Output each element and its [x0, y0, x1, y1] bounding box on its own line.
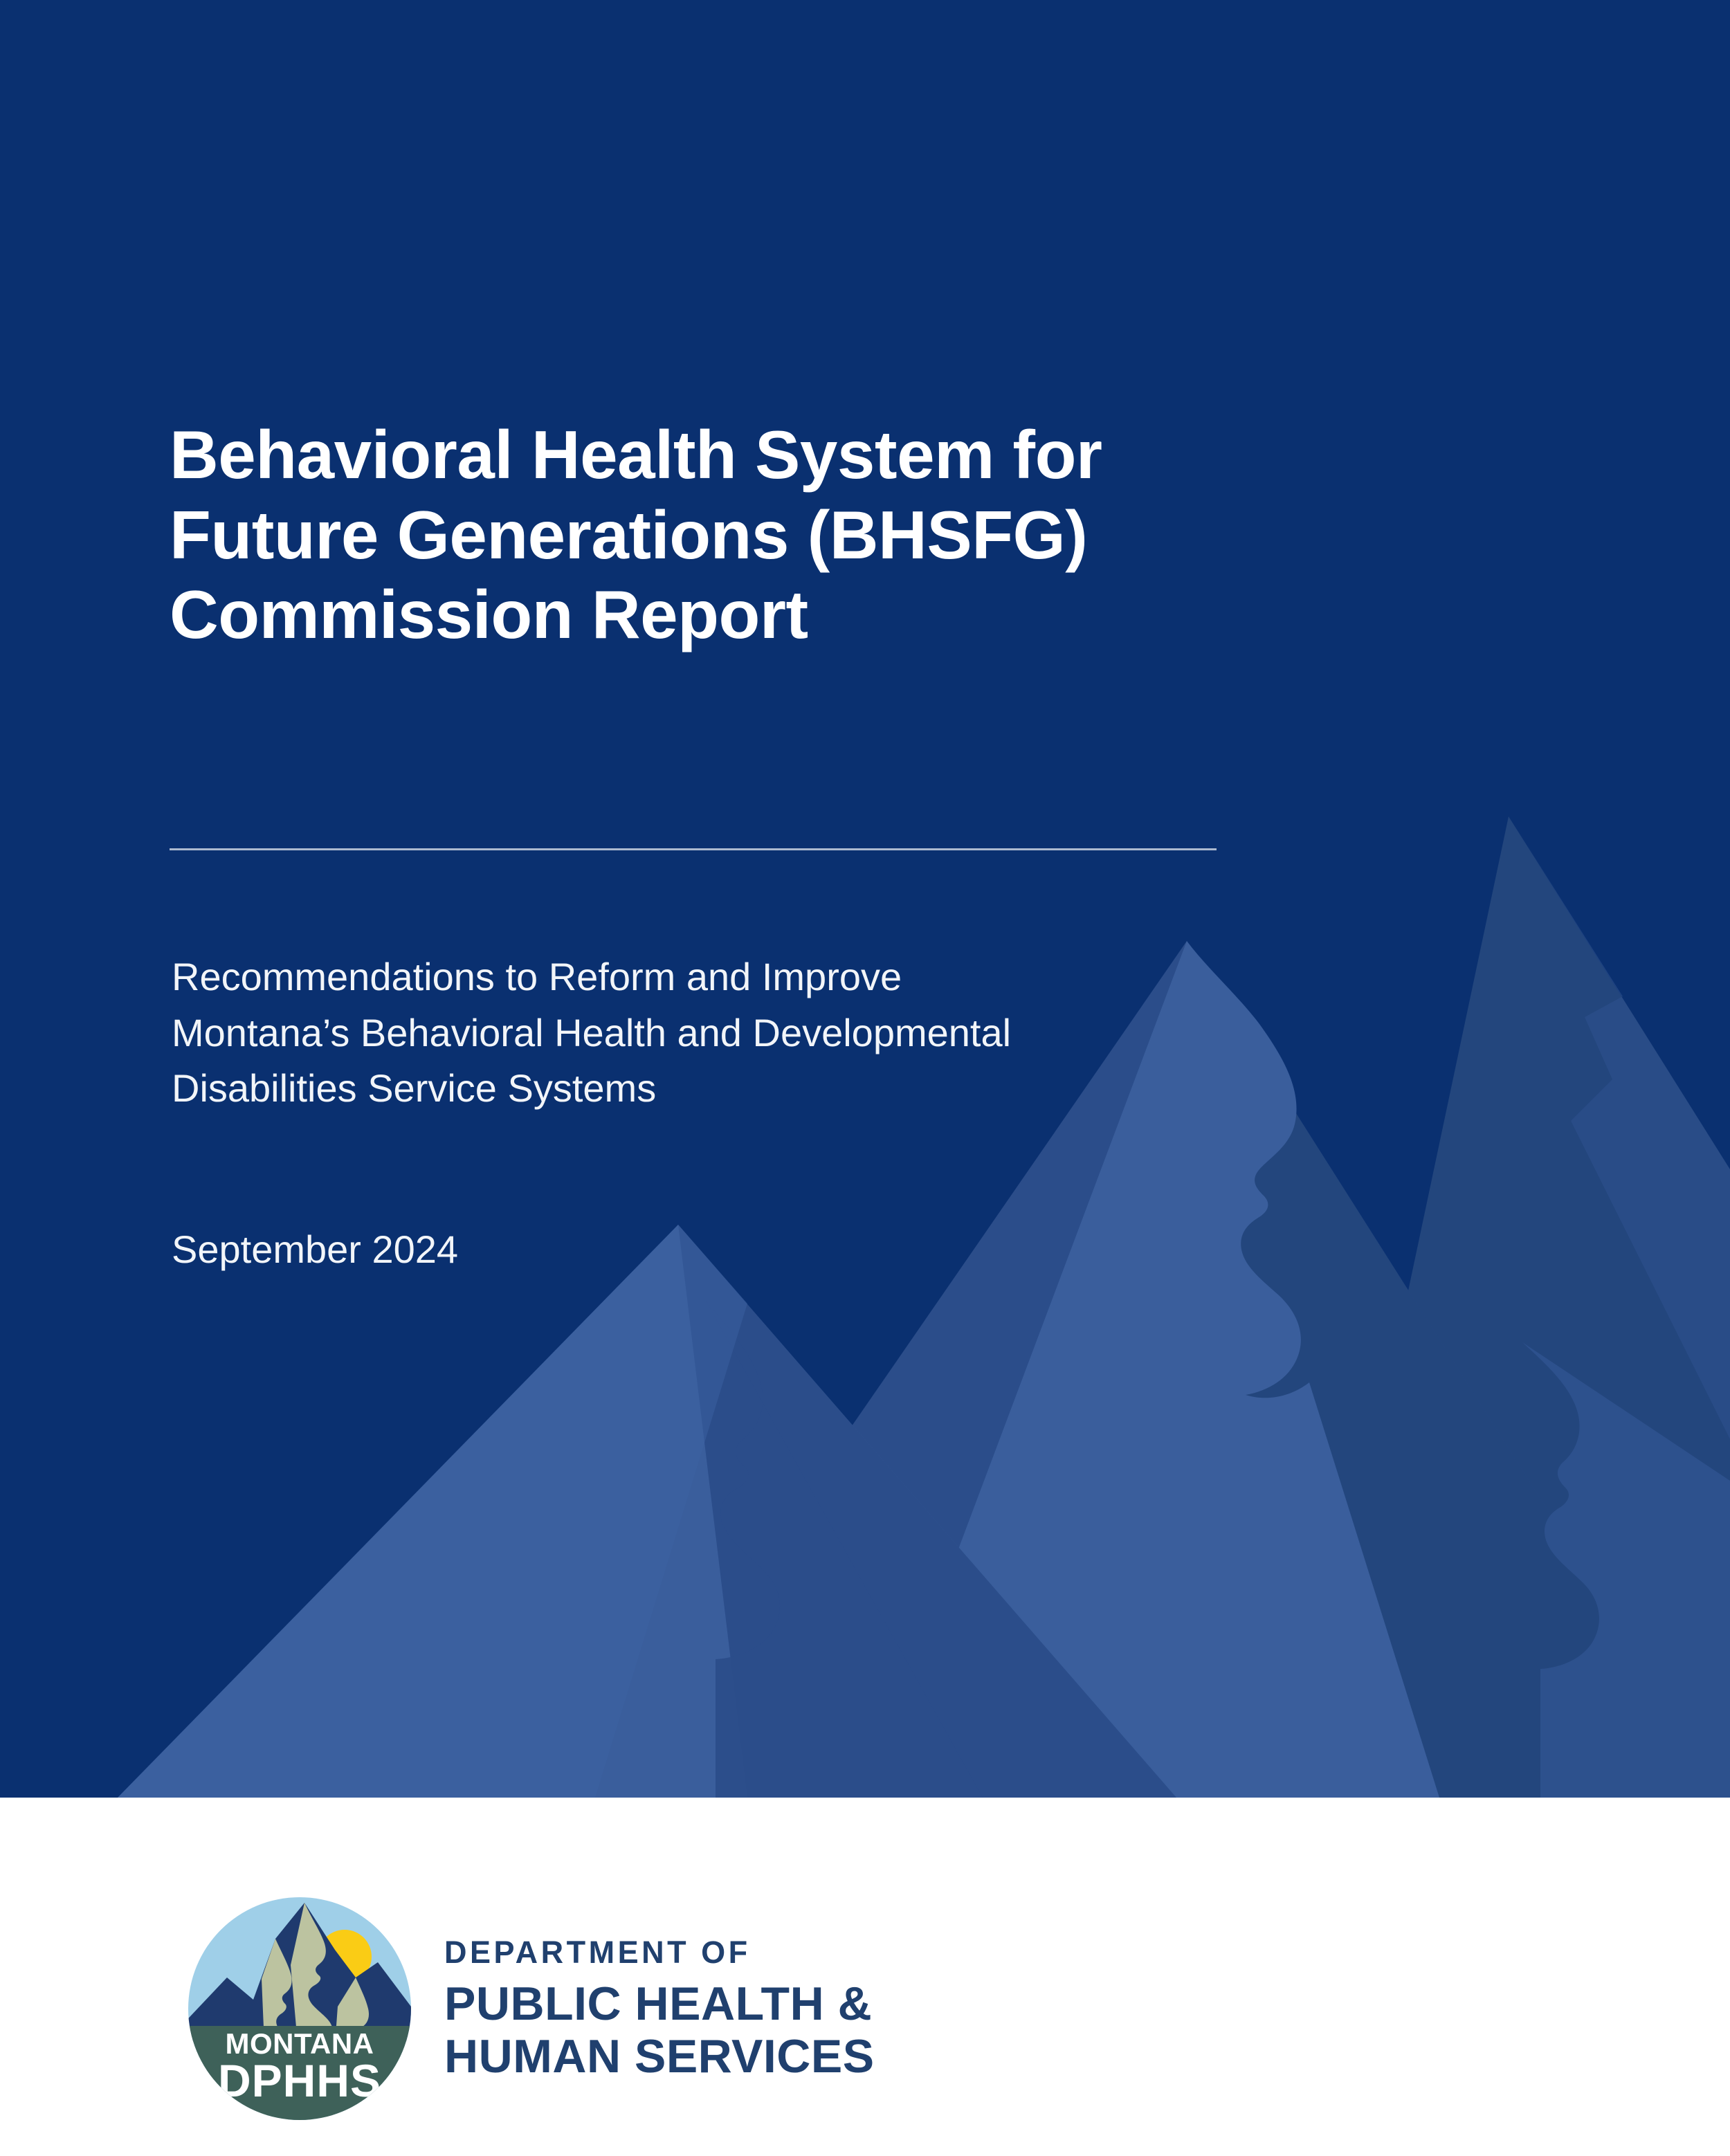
- agency-branding: MONTANA DPHHS DEPARTMENT OF PUBLIC HEALT…: [187, 1896, 875, 2121]
- page-title: Behavioral Health System for Future Gene…: [170, 415, 1249, 655]
- department-wordmark: DEPARTMENT OF PUBLIC HEALTH & HUMAN SERV…: [444, 1935, 875, 2083]
- department-label-line2: PUBLIC HEALTH &: [444, 1977, 875, 2030]
- title-divider: [170, 848, 1217, 850]
- department-label-line3: HUMAN SERVICES: [444, 2030, 875, 2083]
- montana-dphhs-logo-icon: MONTANA DPHHS: [187, 1896, 412, 2121]
- document-subtitle: Recommendations to Reform and Improve Mo…: [172, 949, 1210, 1117]
- logo-dphhs-text: DPHHS: [218, 2055, 381, 2106]
- document-date: September 2024: [172, 1225, 458, 1275]
- hero-panel: Behavioral Health System for Future Gene…: [0, 0, 1730, 1798]
- department-label-line1: DEPARTMENT OF: [444, 1935, 875, 1971]
- cover-page: Behavioral Health System for Future Gene…: [0, 0, 1730, 2156]
- title-block: Behavioral Health System for Future Gene…: [170, 415, 1249, 655]
- mountain-faces-background-graphic: [0, 0, 1730, 1798]
- footer-band: MONTANA DPHHS DEPARTMENT OF PUBLIC HEALT…: [0, 1798, 1730, 2156]
